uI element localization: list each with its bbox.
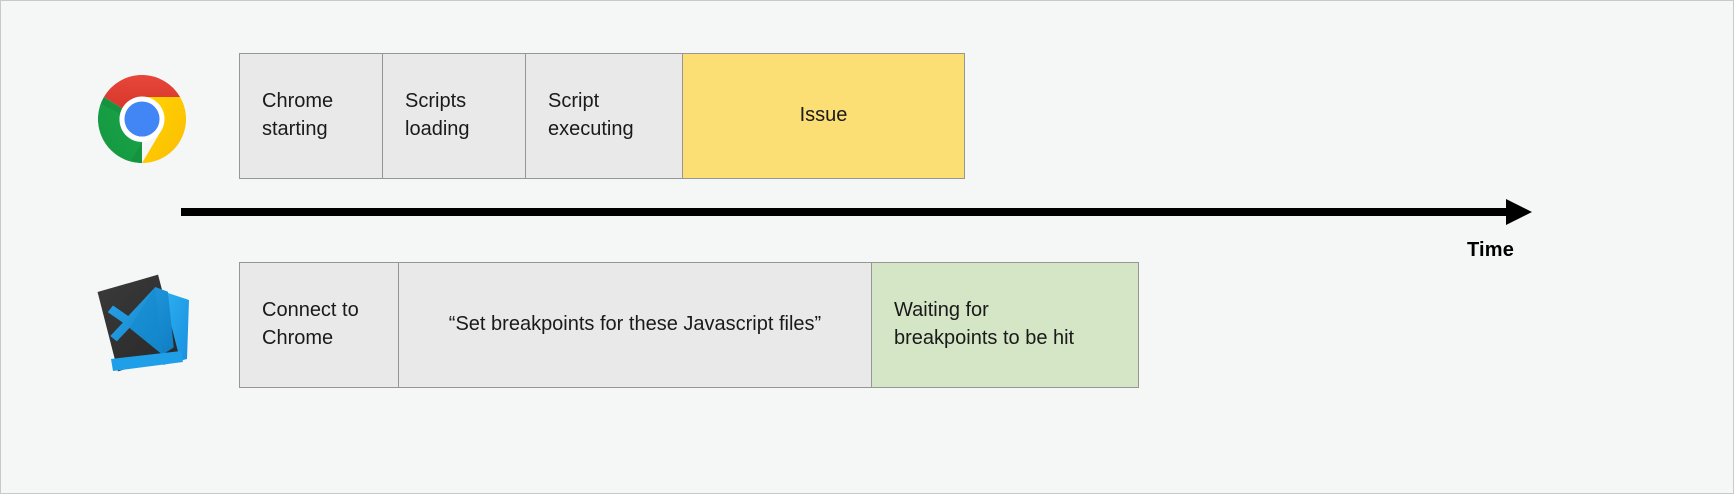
- segment-label: Issue: [800, 102, 848, 130]
- segment-script-executing[interactable]: Script executing: [525, 53, 683, 179]
- chrome-icon: [97, 74, 187, 164]
- segment-label: Chrome starting: [262, 88, 333, 143]
- chrome-timeline-track: Chrome starting Scripts loading Script e…: [239, 53, 965, 179]
- segment-label: “Set breakpoints for these Javascript fi…: [449, 311, 821, 339]
- diagram-canvas: Chrome starting Scripts loading Script e…: [0, 0, 1734, 494]
- segment-label: Script executing: [548, 88, 634, 143]
- segment-issue[interactable]: Issue: [682, 53, 965, 179]
- segment-scripts-loading[interactable]: Scripts loading: [382, 53, 526, 179]
- segment-label: Connect to Chrome: [262, 297, 359, 352]
- segment-waiting-for-breakpoints[interactable]: Waiting for breakpoints to be hit: [871, 262, 1139, 388]
- vscode-timeline-track: Connect to Chrome “Set breakpoints for t…: [239, 262, 1139, 388]
- time-arrow-line: [181, 208, 1508, 216]
- time-axis-label: Time: [1467, 239, 1514, 262]
- vscode-icon: [89, 263, 199, 373]
- segment-label: Waiting for breakpoints to be hit: [894, 297, 1074, 352]
- segment-chrome-starting[interactable]: Chrome starting: [239, 53, 383, 179]
- segment-connect-to-chrome[interactable]: Connect to Chrome: [239, 262, 399, 388]
- segment-set-breakpoints[interactable]: “Set breakpoints for these Javascript fi…: [398, 262, 872, 388]
- time-arrow-head: [1506, 199, 1532, 225]
- segment-label: Scripts loading: [405, 88, 470, 143]
